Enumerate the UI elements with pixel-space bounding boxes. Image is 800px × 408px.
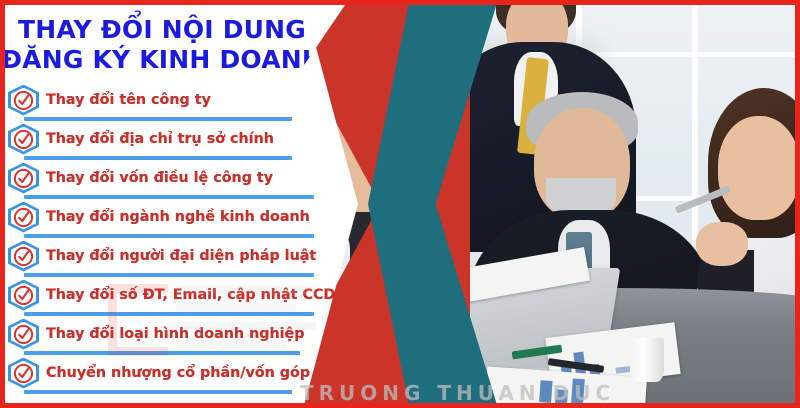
checklist-item[interactable]: Thay đổi vốn điều lệ công ty: [8, 162, 328, 201]
checklist-item-label: Thay đổi vốn điều lệ công ty: [46, 170, 273, 186]
poster-title-banner: THAY ĐỔI NỘI DUNG ĐĂNG KÝ KINH DOANH: [5, 5, 345, 85]
check-circle-icon: [8, 124, 39, 155]
check-circle-icon: [8, 85, 39, 116]
checklist-item[interactable]: Thay đổi tên công ty: [8, 84, 328, 123]
item-underline: [24, 117, 292, 121]
brand-watermark: TRUONG THUAN DUC: [300, 381, 615, 405]
check-circle-icon: [8, 241, 39, 272]
page-title-line1: THAY ĐỔI NỘI DUNG: [18, 15, 306, 46]
checklist-item[interactable]: Thay đổi địa chỉ trụ sở chính: [8, 123, 328, 162]
checklist-item-label: Thay đổi ngành nghề kinh doanh: [46, 209, 310, 225]
page-title-line2: ĐĂNG KÝ KINH DOANH: [1, 45, 323, 76]
check-circle-icon: [8, 319, 39, 350]
check-circle-icon: [8, 163, 39, 194]
item-underline: [24, 195, 314, 199]
item-underline: [24, 390, 292, 394]
check-circle-icon: [8, 358, 39, 389]
check-circle-icon: [8, 202, 39, 233]
checklist-item-label: Thay đổi địa chỉ trụ sở chính: [46, 131, 274, 147]
hand-on-chin: [696, 222, 748, 266]
check-circle-icon: [8, 280, 39, 311]
window-mullion: [692, 0, 698, 245]
checklist-item-label: Thay đổi tên công ty: [46, 92, 211, 108]
checklist-item[interactable]: Thay đổi ngành nghề kinh doanh: [8, 201, 328, 240]
poster-canvas: THAY ĐỔI NỘI DUNG ĐĂNG KÝ KINH DOANH Tha…: [0, 0, 800, 408]
item-underline: [24, 234, 314, 238]
coffee-cup: [630, 338, 664, 382]
background-logo-watermark: [98, 270, 328, 390]
checklist-item-label: Thay đổi người đại diện pháp luật: [46, 248, 316, 264]
item-underline: [24, 156, 292, 160]
content-panel: THAY ĐỔI NỘI DUNG ĐĂNG KÝ KINH DOANH Tha…: [0, 0, 330, 408]
